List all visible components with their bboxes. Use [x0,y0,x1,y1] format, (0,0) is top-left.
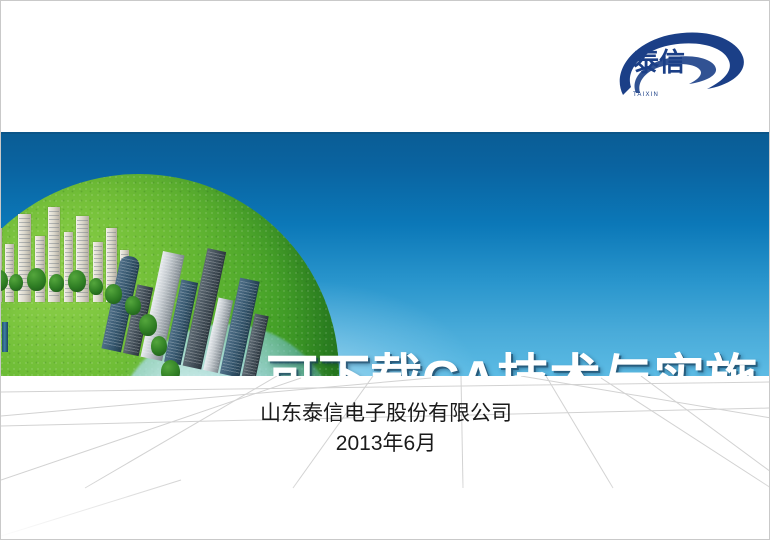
title-slide: 泰信 TAIXIN [0,0,770,540]
presentation-date: 2013年6月 [1,429,770,459]
city-skyline-ring [135,352,285,376]
slide-header: 泰信 TAIXIN [1,1,769,132]
green-globe-illustration [1,174,339,376]
hero-banner: 可下载CA技术与实施 [1,132,770,376]
company-name: 山东泰信电子股份有限公司 [1,399,770,429]
slide-title: 可下载CA技术与实施 [266,350,757,376]
logo-latin-subtext: TAIXIN [633,92,659,98]
logo-wordmark: 泰信 [633,47,685,77]
banner-top-edge [1,132,770,134]
taixin-logo: 泰信 TAIXIN [603,23,751,105]
tree-line [1,174,339,376]
footer-text-block: 山东泰信电子股份有限公司 2013年6月 [1,399,770,459]
